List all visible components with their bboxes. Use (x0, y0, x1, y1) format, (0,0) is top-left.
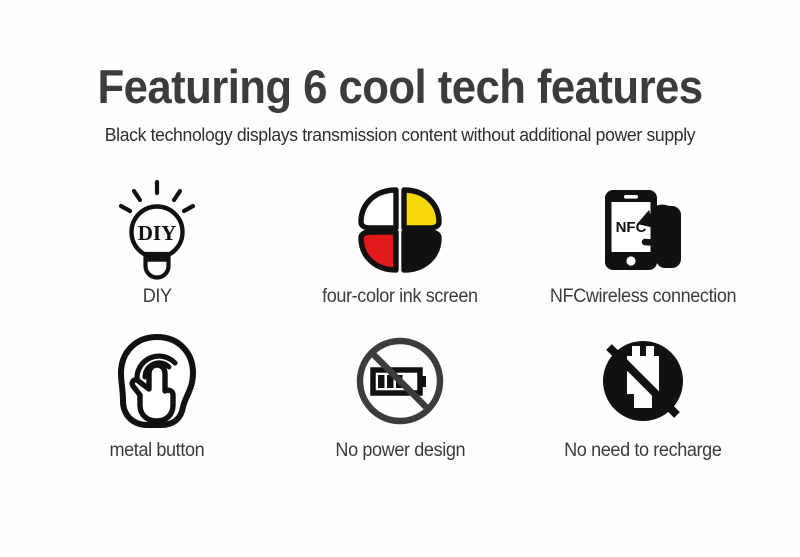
touch-hand-icon (113, 330, 201, 432)
no-battery-icon (353, 330, 447, 432)
feature-item-four-color-ink-screen: four-color ink screen (279, 180, 522, 330)
ink-quadrant-bottom-right (404, 232, 439, 270)
feature-item-diy: DIY DIY (36, 180, 279, 330)
feature-item-nfc: NFC NFCwireless connection (521, 180, 764, 330)
feature-item-metal-button: metal button (36, 330, 279, 480)
page-header: Featuring 6 cool tech features Black tec… (0, 0, 800, 146)
feature-label: metal button (110, 440, 205, 462)
four-color-ink-screen-icon (355, 180, 445, 280)
feature-item-no-recharge: No need to recharge (521, 330, 764, 480)
no-charger-plug-icon (596, 330, 690, 432)
feature-label: four-color ink screen (322, 286, 478, 308)
feature-label: NFCwireless connection (550, 286, 736, 308)
ink-quadrant-top-right (404, 190, 439, 228)
feature-item-no-power-design: No power design (279, 330, 522, 480)
feature-label: No need to recharge (564, 440, 721, 462)
diy-lightbulb-icon: DIY (109, 180, 205, 280)
page-subtitle: Black technology displays transmission c… (20, 124, 780, 146)
feature-label: DIY (143, 286, 172, 308)
feature-label: No power design (335, 440, 465, 462)
page-title: Featuring 6 cool tech features (28, 62, 772, 112)
nfc-phone-icon: NFC (599, 180, 687, 280)
promo-feature-page: Featuring 6 cool tech features Black tec… (0, 0, 800, 557)
ink-quadrant-bottom-left (361, 232, 396, 270)
diy-icon-text: DIY (138, 221, 177, 245)
ink-quadrant-top-left (361, 190, 396, 228)
feature-grid: DIY DIY (0, 180, 800, 480)
